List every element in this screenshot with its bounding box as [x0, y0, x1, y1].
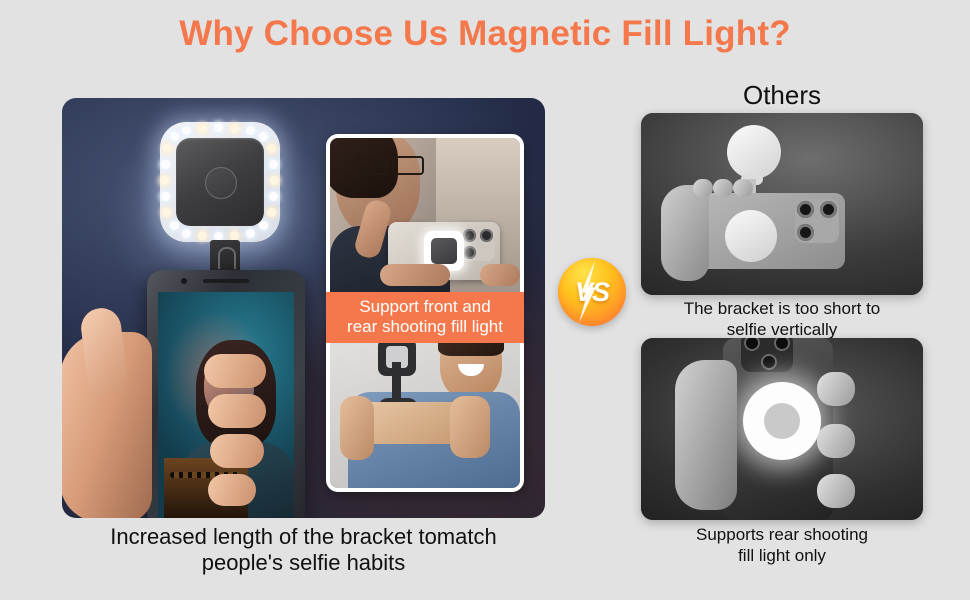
others-caption-2: Supports rear shooting fill light only	[641, 524, 923, 566]
feature-banner: Support front and rear shooting fill lig…	[326, 292, 524, 343]
our-product-caption-line2: people's selfie habits	[62, 550, 545, 576]
bracket-clip	[210, 240, 240, 274]
feature-banner-line1: Support front and	[326, 297, 524, 317]
front-camera-icon	[181, 278, 187, 284]
page-title: Why Choose Us Magnetic Fill Light?	[0, 14, 970, 54]
phone-device	[147, 270, 305, 518]
others-caption-2-line2: fill light only	[641, 545, 923, 566]
others-caption-1-line2: selfie vertically	[641, 319, 923, 340]
magnetic-fill-light-device	[160, 122, 280, 242]
device-face	[176, 138, 264, 226]
others-caption-1: The bracket is too short to selfie verti…	[641, 298, 923, 340]
our-product-caption-line1: Increased length of the bracket tomatch	[62, 524, 545, 550]
inset-photo-front-shooting	[326, 134, 524, 308]
others-panel-1	[641, 113, 923, 295]
our-product-panel: Support front and rear shooting fill lig…	[62, 98, 545, 518]
our-product-caption: Increased length of the bracket tomatch …	[62, 524, 545, 576]
earpiece-speaker	[203, 279, 249, 283]
phone-top-bezel	[147, 270, 305, 292]
phone-screen-portrait	[158, 292, 294, 518]
power-button-icon[interactable]	[205, 167, 237, 199]
others-heading: Others	[641, 80, 923, 111]
infographic-stage: Why Choose Us Magnetic Fill Light?	[0, 0, 970, 600]
others-caption-1-line1: The bracket is too short to	[641, 298, 923, 319]
feature-banner-line2: rear shooting fill light	[326, 317, 524, 337]
eyeglasses-icon	[356, 156, 424, 172]
others-panel-2	[641, 338, 923, 520]
vs-badge: VS	[558, 258, 626, 326]
others-caption-2-line1: Supports rear shooting	[641, 524, 923, 545]
